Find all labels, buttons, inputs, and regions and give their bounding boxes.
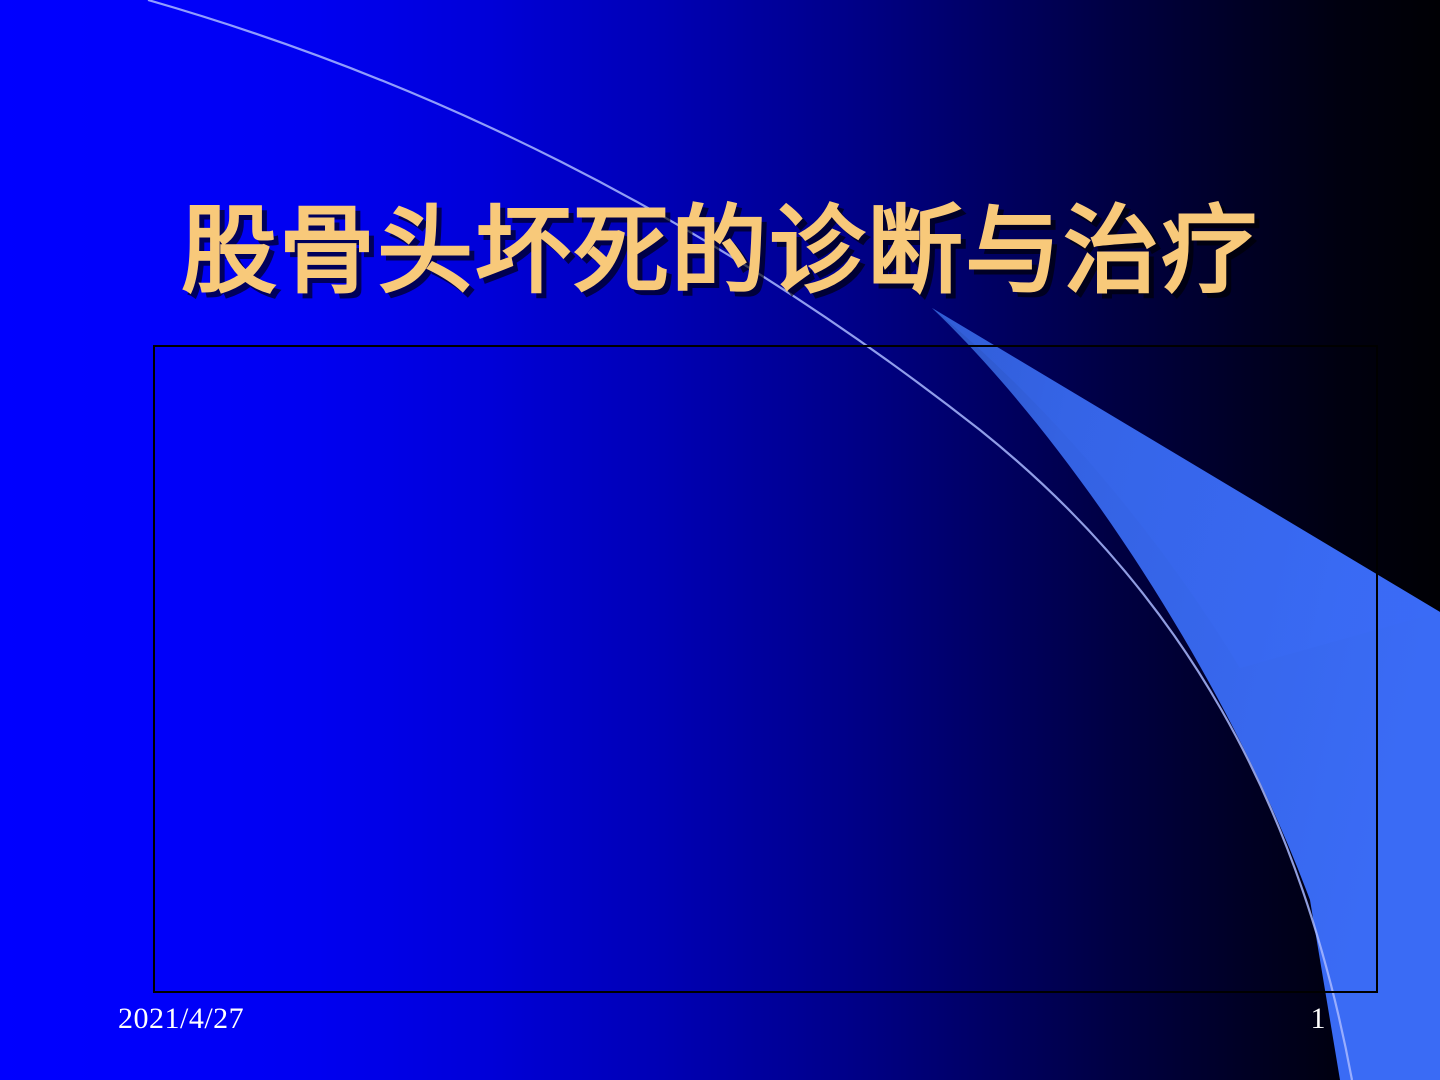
slide-title: 股骨头坏死的诊断与治疗 [0,193,1440,309]
footer-date: 2021/4/27 [118,1002,244,1036]
footer-page-number: 1 [1298,1002,1338,1036]
content-placeholder-box[interactable] [153,345,1378,993]
presentation-slide: 股骨头坏死的诊断与治疗 2021/4/27 1 [0,0,1440,1080]
